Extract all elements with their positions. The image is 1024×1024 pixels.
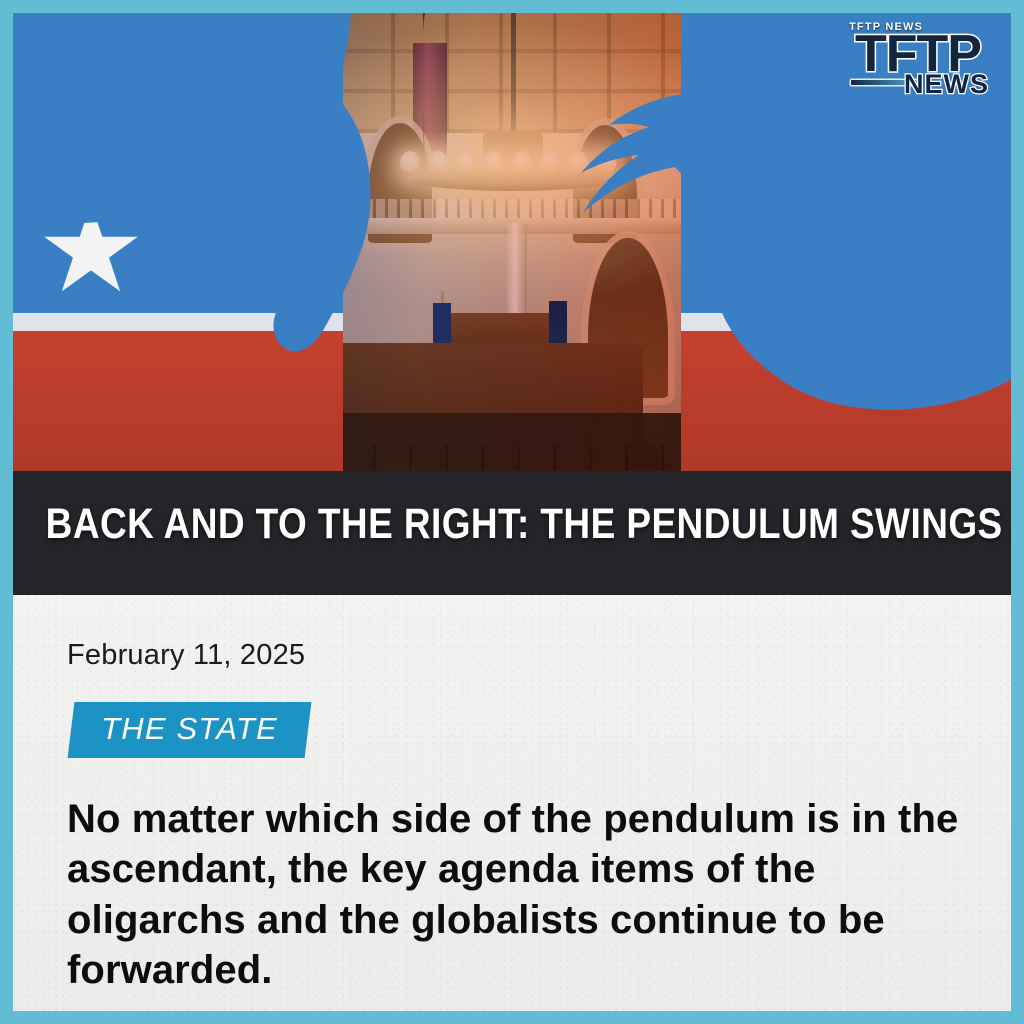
category-badge[interactable]: THE STATE [68,702,312,758]
category-badge-label: THE STATE [101,711,278,747]
article-lede: No matter which side of the pendulum is … [67,794,963,996]
publish-date: February 11, 2025 [67,639,963,672]
donkey-icon [13,13,423,425]
card-inner: TFTP NEWS TFTP NEWS BACK AND TO THE RIGH… [13,13,1011,1011]
headline: BACK AND TO THE RIGHT: THE PENDULUM SWIN… [13,502,871,547]
tftp-news-logo[interactable]: TFTP NEWS TFTP NEWS [843,19,993,117]
headline-wrap: BACK AND TO THE RIGHT: THE PENDULUM SWIN… [13,493,1011,547]
article-panel: February 11, 2025 THE STATE No matter wh… [13,595,1011,1011]
social-card: TFTP NEWS TFTP NEWS BACK AND TO THE RIGH… [0,0,1024,1024]
hero-image: TFTP NEWS TFTP NEWS BACK AND TO THE RIGH… [13,13,1011,595]
